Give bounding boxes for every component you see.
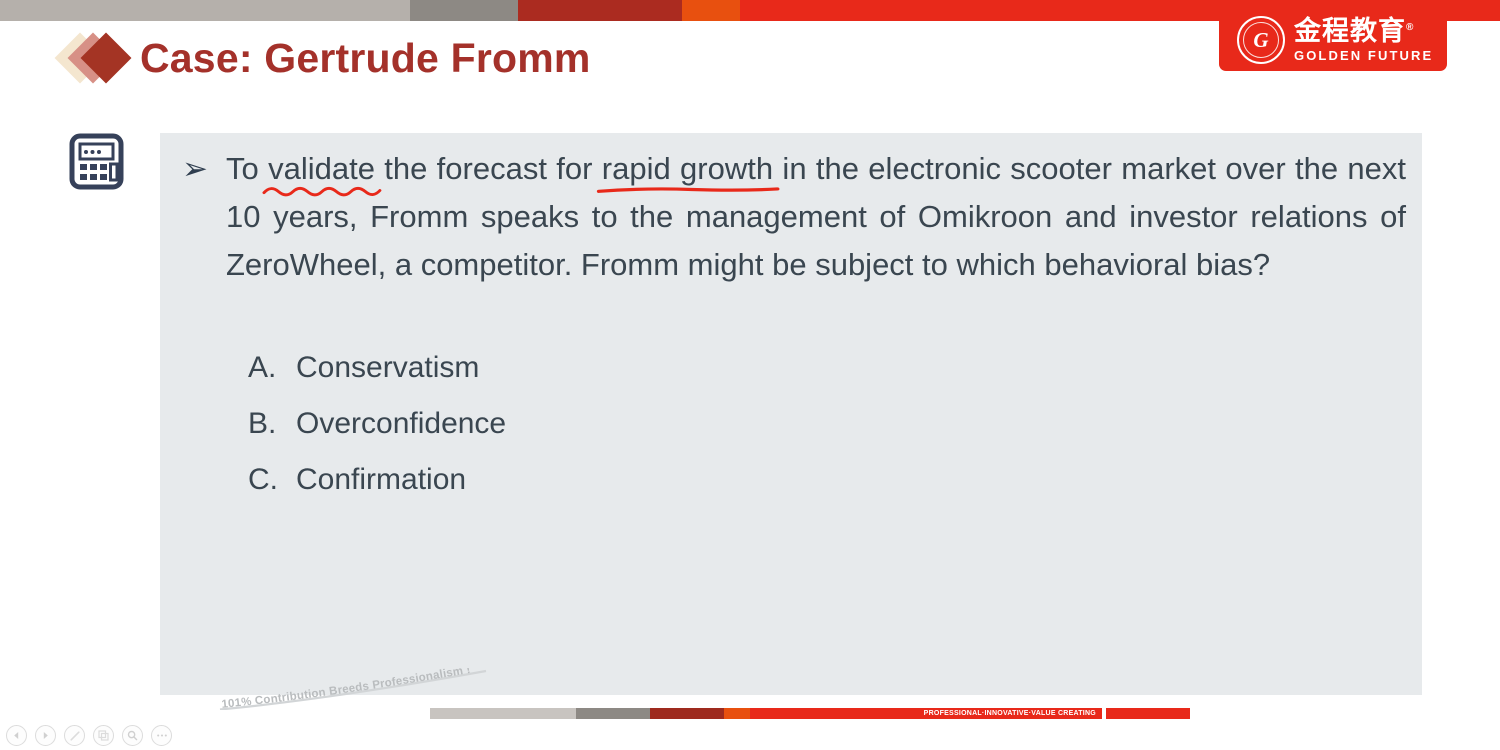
footer-slogan: PROFESSIONAL·INNOVATIVE·VALUE CREATING xyxy=(924,710,1096,717)
red-squiggly-underline-icon xyxy=(264,184,380,197)
registered-mark: ® xyxy=(1406,22,1414,33)
previous-slide-button[interactable] xyxy=(6,725,27,746)
bottom-color-bar: PROFESSIONAL·INNOVATIVE·VALUE CREATING xyxy=(430,708,1190,719)
brand-name-en: GOLDEN FUTURE xyxy=(1294,48,1433,64)
copy-slides-icon xyxy=(98,730,109,741)
emphasis-rapid-growth: rapid growth xyxy=(602,151,773,186)
slide-overview-button[interactable] xyxy=(93,725,114,746)
brand-seal-icon: G xyxy=(1237,16,1285,64)
page-title: Case: Gertrude Fromm xyxy=(140,35,591,82)
calculator-icon xyxy=(69,133,124,190)
question-block: ➢ To validate the forecast for rapid gro… xyxy=(182,145,1410,289)
bottom-bar-segment-1 xyxy=(430,708,576,719)
brand-text-group: 金程教育® GOLDEN FUTURE xyxy=(1294,17,1433,63)
zoom-button[interactable] xyxy=(122,725,143,746)
more-options-button[interactable] xyxy=(151,725,172,746)
emphasis-rapid-growth-text: rapid growth xyxy=(602,151,773,186)
bottom-bar-segment-4 xyxy=(724,708,750,719)
emphasis-validate: validate xyxy=(268,151,375,186)
answer-option-a-letter: A. xyxy=(248,345,296,390)
emphasis-validate-text: validate xyxy=(268,151,375,186)
next-slide-button[interactable] xyxy=(35,725,56,746)
answer-option-c[interactable]: C. Confirmation xyxy=(248,457,506,502)
question-text: To validate the forecast for rapid growt… xyxy=(226,145,1406,289)
bullet-arrow-icon: ➢ xyxy=(182,145,226,193)
triangle-left-icon xyxy=(12,731,21,740)
pen-icon xyxy=(69,730,81,742)
brand-logo: G 金程教育® GOLDEN FUTURE xyxy=(1219,9,1447,71)
top-bar-segment-3 xyxy=(518,0,682,21)
magnifier-icon xyxy=(127,730,138,741)
bottom-bar-segment-6 xyxy=(1106,708,1190,719)
answer-options-list: A. Conservatism B. Overconfidence C. Con… xyxy=(248,345,506,513)
slide-title-row: Case: Gertrude Fromm xyxy=(62,30,591,86)
top-bar-segment-2 xyxy=(410,0,518,21)
three-diamonds-icon xyxy=(62,30,140,86)
answer-option-c-label: Confirmation xyxy=(296,457,466,502)
answer-option-b-label: Overconfidence xyxy=(296,401,506,446)
triangle-right-icon xyxy=(41,731,50,740)
answer-option-b-letter: B. xyxy=(248,401,296,446)
question-part-2: the forecast for xyxy=(375,151,602,186)
bottom-bar-segment-5: PROFESSIONAL·INNOVATIVE·VALUE CREATING xyxy=(750,708,1102,719)
question-part-1: To xyxy=(226,151,268,186)
answer-option-a-label: Conservatism xyxy=(296,345,479,390)
top-bar-segment-1 xyxy=(0,0,410,21)
bottom-bar-segment-3 xyxy=(650,708,724,719)
answer-option-b[interactable]: B. Overconfidence xyxy=(248,401,506,446)
content-panel: ➢ To validate the forecast for rapid gro… xyxy=(160,133,1422,695)
red-straight-underline-icon xyxy=(599,186,777,194)
brand-name-cn-text: 金程教育 xyxy=(1294,16,1406,46)
ellipsis-icon xyxy=(156,733,168,738)
bottom-bar-segment-2 xyxy=(576,708,650,719)
brand-name-cn: 金程教育® xyxy=(1294,17,1433,46)
viewer-toolbar xyxy=(6,725,172,746)
answer-option-a[interactable]: A. Conservatism xyxy=(248,345,506,390)
brand-seal-glyph: G xyxy=(1253,30,1268,51)
top-bar-segment-4 xyxy=(682,0,740,21)
answer-option-c-letter: C. xyxy=(248,457,296,502)
pen-annotate-button[interactable] xyxy=(64,725,85,746)
